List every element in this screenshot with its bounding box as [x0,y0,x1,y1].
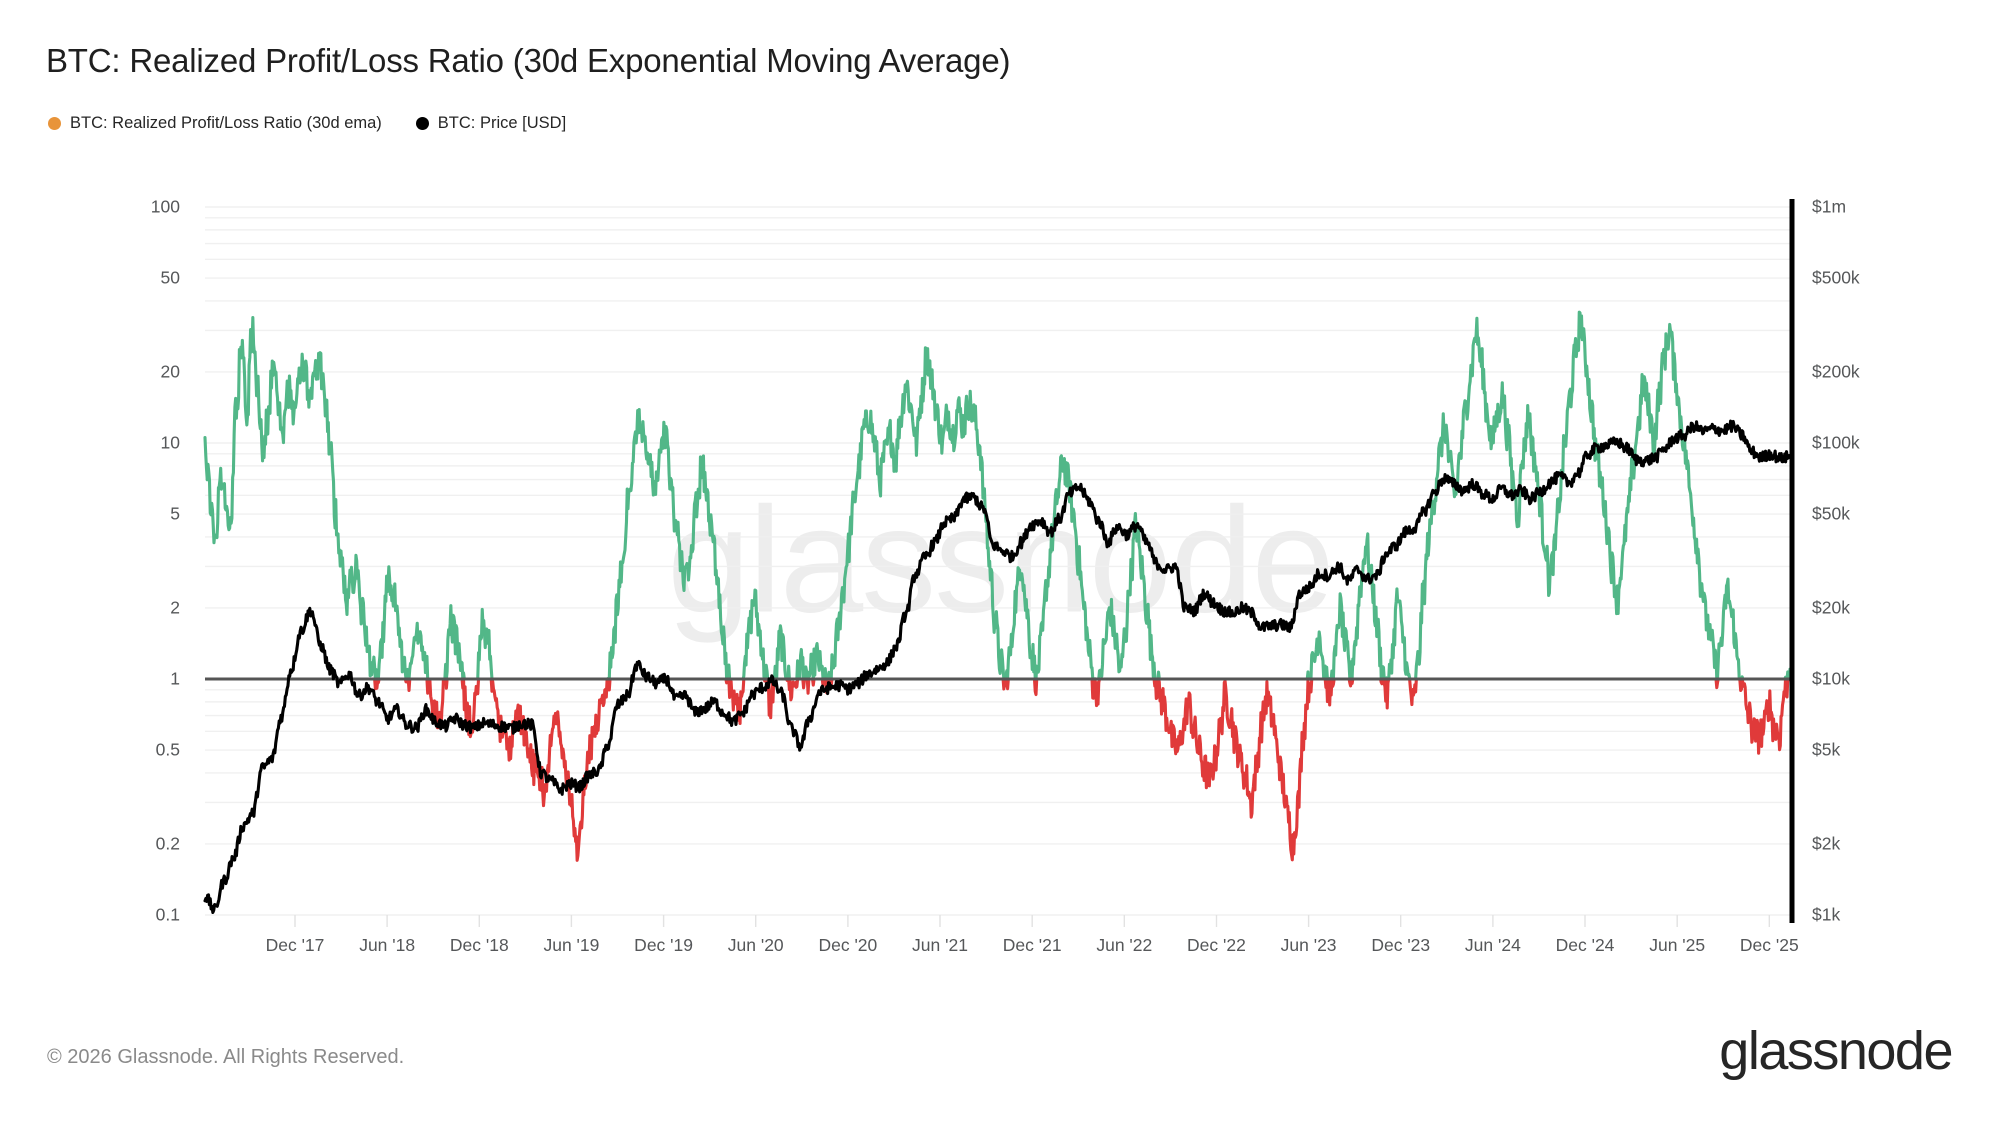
y-axis-left-tick: 10 [120,433,180,454]
x-axis-tick: Jun '25 [1649,935,1705,956]
x-axis-tick: Dec '19 [634,935,693,956]
y-axis-right-tick: $20k [1812,597,1922,618]
y-axis-right-tick: $10k [1812,669,1922,690]
x-axis-tick: Jun '23 [1281,935,1337,956]
x-axis-tick: Jun '21 [912,935,968,956]
y-axis-right-tick: $500k [1812,268,1922,289]
y-axis-left-tick: 50 [120,268,180,289]
y-axis-left-tick: 0.2 [120,833,180,854]
glassnode-logo: glassnode [1719,1024,1952,1078]
x-axis-tick: Dec '22 [1187,935,1246,956]
y-axis-left-tick: 100 [120,197,180,218]
x-axis-tick: Jun '18 [359,935,415,956]
y-axis-left-tick: 0.5 [120,740,180,761]
y-axis-right-tick: $2k [1812,833,1922,854]
x-tick-marks [295,915,1769,927]
x-axis-tick: Jun '22 [1096,935,1152,956]
y-axis-left-tick: 5 [120,504,180,525]
x-axis-tick: Dec '21 [1003,935,1062,956]
footer-copyright: © 2026 Glassnode. All Rights Reserved. [47,1046,404,1069]
y-axis-right-tick: $200k [1812,361,1922,382]
ratio-series [205,312,1790,860]
y-axis-right-tick: $50k [1812,504,1922,525]
y-axis-right-tick: $5k [1812,740,1922,761]
y-axis-right-tick: $1m [1812,197,1922,218]
x-axis-tick: Dec '23 [1371,935,1430,956]
x-axis-tick: Jun '24 [1465,935,1521,956]
y-axis-left-tick: 1 [120,669,180,690]
chart-plot-area[interactable]: 0.10.20.5125102050100$1k$2k$5k$10k$20k$5… [0,0,2000,1125]
chart-canvas [0,0,2000,1125]
x-axis-tick: Jun '20 [728,935,784,956]
y-axis-right-tick: $1k [1812,905,1922,926]
y-axis-right-tick: $100k [1812,433,1922,454]
x-axis-tick: Dec '17 [266,935,325,956]
x-axis-tick: Dec '25 [1740,935,1799,956]
x-axis-tick: Dec '20 [818,935,877,956]
y-axis-left-tick: 0.1 [120,905,180,926]
x-axis-tick: Jun '19 [543,935,599,956]
y-axis-left-tick: 20 [120,361,180,382]
x-axis-tick: Dec '24 [1556,935,1615,956]
y-axis-left-tick: 2 [120,597,180,618]
x-axis-tick: Dec '18 [450,935,509,956]
